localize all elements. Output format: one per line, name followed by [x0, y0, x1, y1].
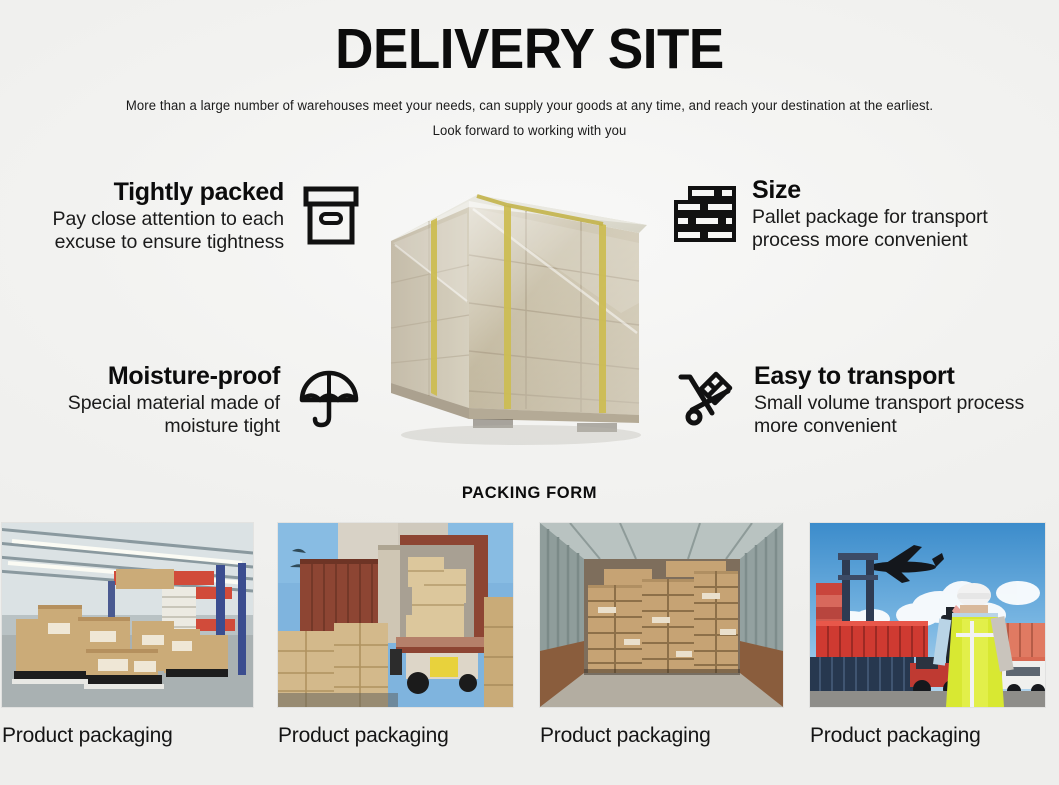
gallery-item[interactable]: Product packaging [540, 523, 783, 748]
brick-wall-icon [672, 184, 738, 244]
box-icon [302, 185, 360, 247]
feature-moisture-proof: Moisture-proof Special material made of … [0, 362, 360, 438]
gallery-caption: Product packaging [810, 724, 1045, 748]
warehouse-interior-photo [2, 523, 253, 707]
feature-description: Pallet package for transport process mor… [752, 206, 1059, 252]
feature-tightly-packed: Tightly packed Pay close attention to ea… [0, 178, 360, 254]
feature-text: Easy to transport Small volume transport… [754, 362, 1059, 438]
gallery-caption: Product packaging [540, 724, 783, 748]
gallery-caption: Product packaging [278, 724, 513, 748]
feature-heading: Moisture-proof [0, 362, 280, 390]
feature-description: Small volume transport process more conv… [754, 392, 1059, 438]
feature-text: Tightly packed Pay close attention to ea… [0, 178, 284, 254]
packing-form-heading: PACKING FORM [0, 484, 1059, 503]
delivery-site-banner: DELIVERY SITE More than a large number o… [0, 0, 1059, 785]
gallery-item[interactable]: Product packaging [278, 523, 513, 748]
page-title: DELIVERY SITE [37, 0, 1022, 78]
port-logistics-photo [810, 523, 1045, 707]
gallery-item[interactable]: Product packaging [810, 523, 1045, 748]
feature-description: Pay close attention to each excuse to en… [0, 208, 284, 254]
container-interior-photo [540, 523, 783, 707]
feature-heading: Size [752, 176, 1059, 204]
feature-text: Moisture-proof Special material made of … [0, 362, 280, 438]
gallery-caption: Product packaging [2, 724, 253, 748]
container-loading-photo [278, 523, 513, 707]
gallery-item[interactable]: Product packaging [2, 523, 253, 748]
packing-form-gallery: Product packaging [0, 523, 1059, 763]
feature-heading: Tightly packed [0, 178, 284, 206]
feature-easy-to-transport: Easy to transport Small volume transport… [676, 362, 1059, 438]
feature-size: Size Pallet package for transport proces… [672, 176, 1059, 252]
hand-truck-icon [676, 369, 740, 431]
feature-description: Special material made of moisture tight [0, 392, 280, 438]
header: DELIVERY SITE More than a large number o… [0, 0, 1059, 138]
feature-text: Size Pallet package for transport proces… [752, 176, 1059, 252]
wrapped-pallet-photo [381, 183, 647, 456]
header-subtitle-line1: More than a large number of warehouses m… [16, 78, 1043, 113]
header-subtitle-line2: Look forward to working with you [16, 113, 1043, 138]
feature-heading: Easy to transport [754, 362, 1059, 390]
umbrella-icon [298, 369, 360, 431]
